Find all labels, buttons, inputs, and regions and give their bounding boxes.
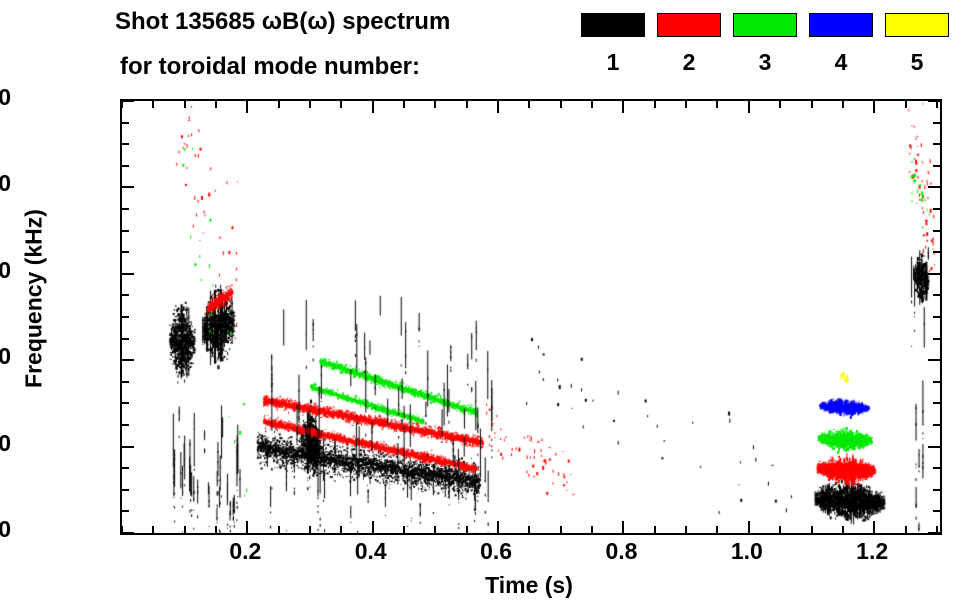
x-tick-minor	[403, 526, 405, 533]
legend-label-5: 5	[885, 51, 949, 74]
x-tick-minor	[215, 526, 217, 533]
y-tick-label-40: 40	[0, 345, 11, 368]
y-tick-minor	[122, 316, 129, 318]
y-tick-major	[122, 100, 134, 102]
x-tick-label-1.0: 1.0	[702, 540, 792, 563]
x-tick-minor	[811, 526, 813, 533]
x-tick-minor	[466, 526, 468, 533]
y-tick-minor	[933, 143, 940, 145]
x-tick-minor	[811, 101, 813, 108]
x-tick-minor	[121, 526, 123, 533]
x-tick-major	[497, 101, 499, 113]
x-tick-minor	[685, 101, 687, 108]
x-tick-label-0.2: 0.2	[200, 540, 290, 563]
y-tick-label-100: 100	[0, 86, 11, 109]
y-tick-label-80: 80	[0, 172, 11, 195]
y-tick-label-0: 0	[0, 518, 11, 541]
y-tick-minor	[122, 294, 129, 296]
x-tick-minor	[340, 101, 342, 108]
legend-label-4: 4	[809, 51, 873, 74]
x-tick-minor	[905, 526, 907, 533]
x-tick-major	[748, 521, 750, 533]
x-tick-major	[873, 521, 875, 533]
y-tick-minor	[933, 165, 940, 167]
x-tick-minor	[591, 101, 593, 108]
legend-item-1: 1	[581, 13, 645, 74]
x-tick-label-1.2: 1.2	[827, 540, 917, 563]
y-tick-minor	[933, 402, 940, 404]
y-tick-minor	[933, 338, 940, 340]
x-tick-minor	[152, 101, 154, 108]
x-tick-major	[372, 521, 374, 533]
x-tick-label-0.4: 0.4	[326, 540, 416, 563]
x-tick-minor	[905, 101, 907, 108]
y-tick-minor	[933, 489, 940, 491]
y-tick-major	[122, 532, 134, 534]
y-tick-major	[928, 359, 940, 361]
plot-area	[120, 99, 942, 535]
y-tick-minor	[933, 510, 940, 512]
y-axis-label: Frequency (kHz)	[21, 199, 48, 399]
plot-title-line2: for toroidal mode number:	[120, 53, 420, 81]
spectrogram-canvas	[122, 101, 940, 533]
x-tick-major	[622, 521, 624, 533]
y-tick-minor	[122, 208, 129, 210]
x-tick-minor	[528, 526, 530, 533]
y-tick-major	[928, 186, 940, 188]
legend-item-2: 2	[657, 13, 721, 74]
legend-swatch-1	[581, 13, 645, 37]
legend: 12345	[581, 13, 953, 88]
x-tick-minor	[936, 101, 938, 108]
x-tick-minor	[560, 526, 562, 533]
x-tick-minor	[654, 101, 656, 108]
x-tick-minor	[560, 101, 562, 108]
legend-label-2: 2	[657, 51, 721, 74]
y-tick-major	[928, 100, 940, 102]
x-tick-minor	[716, 101, 718, 108]
x-tick-minor	[434, 526, 436, 533]
y-tick-minor	[933, 208, 940, 210]
x-tick-minor	[278, 526, 280, 533]
y-tick-minor	[933, 251, 940, 253]
x-tick-minor	[340, 526, 342, 533]
y-tick-major	[122, 186, 134, 188]
y-tick-major	[928, 532, 940, 534]
x-tick-minor	[184, 101, 186, 108]
y-tick-label-60: 60	[0, 259, 11, 282]
x-tick-major	[748, 101, 750, 113]
y-tick-minor	[933, 294, 940, 296]
y-tick-label-20: 20	[0, 432, 11, 455]
y-tick-minor	[933, 381, 940, 383]
y-tick-minor	[122, 165, 129, 167]
legend-swatch-5	[885, 13, 949, 37]
x-tick-major	[372, 101, 374, 113]
y-tick-major	[928, 446, 940, 448]
y-tick-minor	[122, 467, 129, 469]
y-tick-major	[122, 446, 134, 448]
legend-item-3: 3	[733, 13, 797, 74]
legend-label-3: 3	[733, 51, 797, 74]
x-tick-minor	[466, 101, 468, 108]
x-tick-major	[246, 101, 248, 113]
x-tick-minor	[779, 526, 781, 533]
legend-swatch-2	[657, 13, 721, 37]
plot-title-line1: Shot 135685 ωB(ω) spectrum	[115, 8, 450, 36]
y-tick-major	[928, 273, 940, 275]
spectrogram-figure: Shot 135685 ωB(ω) spectrum for toroidal …	[0, 0, 963, 615]
x-tick-major	[246, 521, 248, 533]
y-tick-minor	[933, 424, 940, 426]
x-tick-major	[873, 101, 875, 113]
y-tick-minor	[122, 338, 129, 340]
x-tick-minor	[184, 526, 186, 533]
y-tick-minor	[122, 251, 129, 253]
x-axis-label: Time (s)	[120, 572, 938, 599]
y-tick-minor	[122, 489, 129, 491]
x-tick-label-0.6: 0.6	[451, 540, 541, 563]
y-tick-minor	[122, 122, 129, 124]
y-tick-minor	[933, 230, 940, 232]
y-tick-minor	[122, 381, 129, 383]
legend-label-1: 1	[581, 51, 645, 74]
x-tick-minor	[936, 526, 938, 533]
y-tick-major	[122, 273, 134, 275]
x-tick-major	[622, 101, 624, 113]
x-tick-minor	[309, 526, 311, 533]
y-tick-major	[122, 359, 134, 361]
y-tick-minor	[122, 230, 129, 232]
y-tick-minor	[933, 122, 940, 124]
x-tick-minor	[215, 101, 217, 108]
y-tick-minor	[122, 424, 129, 426]
x-tick-minor	[434, 101, 436, 108]
x-tick-minor	[685, 526, 687, 533]
x-tick-minor	[121, 101, 123, 108]
x-tick-major	[497, 521, 499, 533]
legend-item-4: 4	[809, 13, 873, 74]
y-tick-minor	[122, 402, 129, 404]
x-tick-minor	[591, 526, 593, 533]
x-tick-label-0.8: 0.8	[576, 540, 666, 563]
y-tick-minor	[933, 467, 940, 469]
x-tick-minor	[309, 101, 311, 108]
x-tick-minor	[842, 101, 844, 108]
x-tick-minor	[842, 526, 844, 533]
x-tick-minor	[528, 101, 530, 108]
y-tick-minor	[933, 316, 940, 318]
y-tick-minor	[122, 143, 129, 145]
x-tick-minor	[403, 101, 405, 108]
x-tick-minor	[278, 101, 280, 108]
legend-swatch-4	[809, 13, 873, 37]
x-tick-minor	[716, 526, 718, 533]
x-tick-minor	[152, 526, 154, 533]
x-tick-minor	[654, 526, 656, 533]
legend-swatch-3	[733, 13, 797, 37]
x-tick-minor	[779, 101, 781, 108]
y-tick-minor	[122, 510, 129, 512]
legend-item-5: 5	[885, 13, 949, 74]
